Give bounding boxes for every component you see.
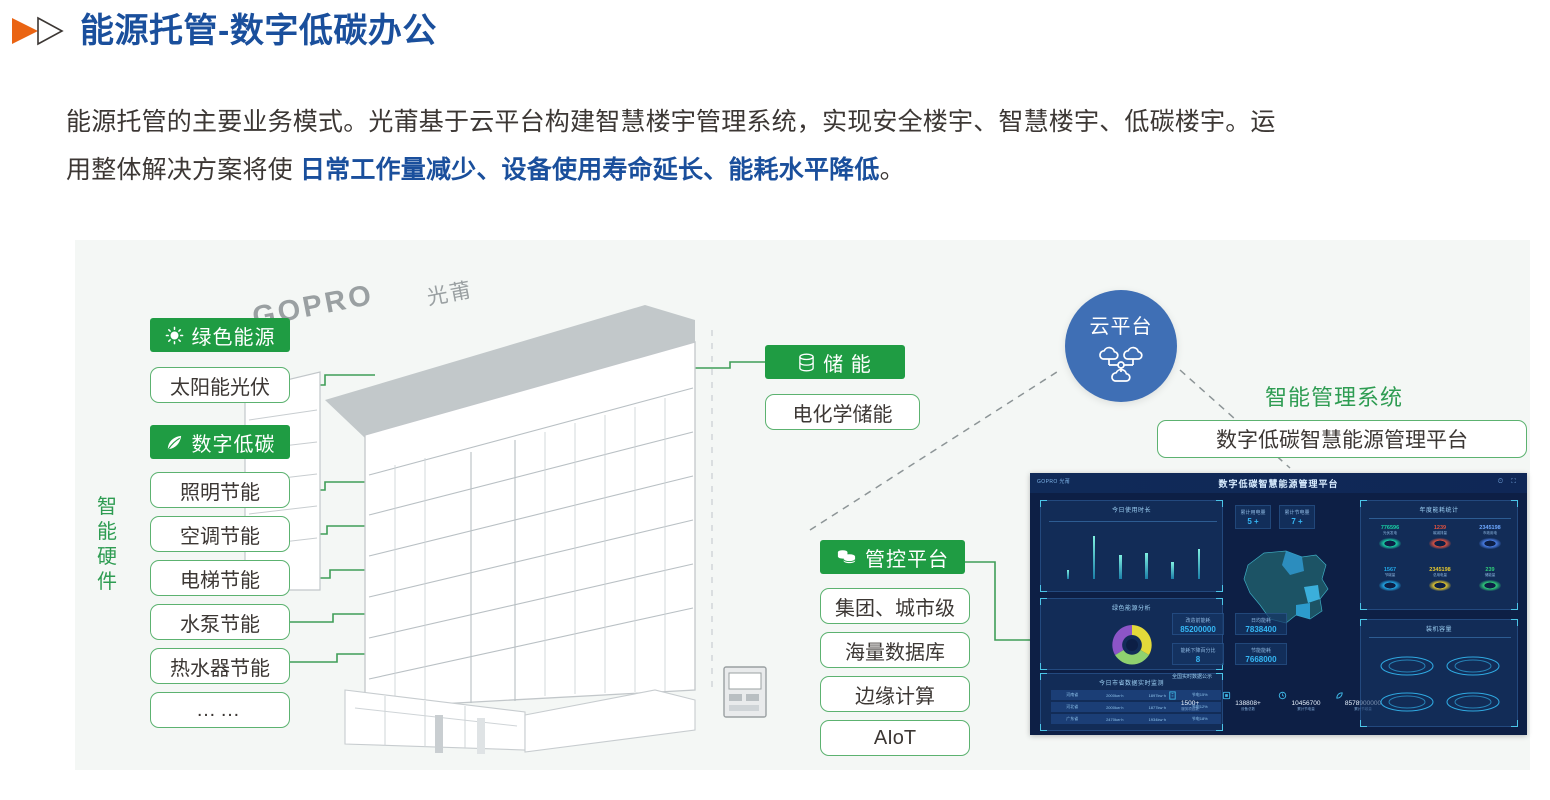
- dashboard-title: 数字低碳智慧能源管理平台: [1030, 477, 1527, 490]
- cell: 2000kw·h: [1094, 705, 1137, 710]
- gauge-label: 节碳量: [1367, 573, 1413, 578]
- dashboard-screenshot[interactable]: GOPRO 光莆 数字低碳智慧能源管理平台 ⏲ ⛶ 今日使用时长 绿色能源分析: [1030, 473, 1527, 735]
- bottom-stat-devices: 138808+ 设备总数: [1222, 691, 1274, 712]
- stat-label: 节能能耗: [1236, 647, 1286, 654]
- stat-label: 改造前能耗: [1173, 617, 1223, 624]
- item-lighting-saving[interactable]: 照明节能: [150, 472, 290, 508]
- gauge-label: 储能量: [1467, 573, 1513, 578]
- panel-title: 装机容量: [1361, 624, 1517, 633]
- item-label: 集团、城市级: [835, 592, 955, 621]
- stat-value: 138808+: [1222, 700, 1274, 707]
- bottom-stat-power-saved: 10456700 累计节电量: [1278, 691, 1334, 712]
- stat-value: 1500+: [1168, 700, 1212, 707]
- dashboard-window-icons[interactable]: ⏲ ⛶: [1498, 478, 1519, 486]
- meter-device-icon: [722, 665, 768, 719]
- stat-daily-consumption: 日均能耗 7838400: [1235, 613, 1287, 635]
- device-icon: [1222, 691, 1231, 700]
- building-icon: [1168, 691, 1177, 700]
- cell: 1934kw·h: [1136, 717, 1179, 722]
- cloud-platform-node[interactable]: 云平台: [1065, 290, 1177, 402]
- group-head-energy-storage: 储 能: [765, 345, 905, 379]
- group-head-label: 数字低碳: [192, 428, 276, 457]
- item-massive-database[interactable]: 海量数据库: [820, 632, 970, 668]
- stat-reduction-percent: 能耗下降百分比 8: [1172, 643, 1224, 665]
- item-label: 电梯节能: [180, 564, 260, 593]
- stat-label: 设备总数: [1222, 707, 1274, 712]
- leaf-icon: [165, 433, 184, 452]
- item-label: ……: [196, 699, 244, 722]
- item-label: AIoT: [874, 727, 916, 750]
- sun-icon: [165, 326, 184, 345]
- group-head-digital-low-carbon: 数字低碳: [150, 425, 290, 459]
- capacity-gauges: [1361, 640, 1519, 724]
- item-aiot[interactable]: AIoT: [820, 720, 970, 756]
- group-head-control-platform: 管控平台: [820, 540, 965, 574]
- stat-value: 7668000: [1236, 655, 1286, 664]
- cell: 广东省: [1051, 716, 1094, 722]
- panel-capacity: 装机容量: [1360, 619, 1518, 727]
- group-head-label: 管控平台: [865, 543, 949, 572]
- system-platform-box[interactable]: 数字低碳智慧能源管理平台: [1157, 420, 1527, 458]
- double-triangle-icon: [8, 14, 66, 48]
- item-label: 水泵节能: [180, 608, 260, 637]
- kpi-accumulated-saving: 累计节电量 7 +: [1279, 505, 1315, 529]
- item-label: 热水器节能: [170, 652, 270, 681]
- kpi-label: 累计用电量: [1236, 509, 1270, 516]
- page-header: 能源托管-数字低碳办公: [8, 14, 437, 48]
- item-elevator-saving[interactable]: 电梯节能: [150, 560, 290, 596]
- item-label: 海量数据库: [845, 636, 945, 665]
- system-title: 智能管理系统: [1265, 380, 1403, 412]
- page-title: 能源托管-数字低碳办公: [80, 14, 437, 48]
- gauge-label: 总用电量: [1417, 573, 1463, 578]
- panel-title: 今日使用时长: [1041, 505, 1222, 514]
- database-icon: [798, 353, 815, 372]
- stat-value: 8: [1173, 655, 1223, 664]
- item-pump-saving[interactable]: 水泵节能: [150, 604, 290, 640]
- item-label: 太阳能光伏: [170, 371, 270, 400]
- group-head-label: 储 能: [823, 348, 872, 377]
- cell: 河南省: [1051, 692, 1094, 698]
- group-head-label: 绿色能源: [192, 321, 276, 350]
- kpi-value: 7 +: [1280, 517, 1314, 526]
- intro-line-2-highlight: 日常工作量减少、设备使用寿命延长、能耗水平降低: [300, 156, 880, 184]
- item-edge-computing[interactable]: 边缘计算: [820, 676, 970, 712]
- stat-label: 能耗下降百分比: [1173, 647, 1223, 654]
- item-group-city-level[interactable]: 集团、城市级: [820, 588, 970, 624]
- bottom-stat-projects: 1500+ 服务项目数: [1168, 691, 1212, 712]
- intro-line-1: 能源托管的主要业务模式。光莆基于云平台构建智慧楼宇管理系统，实现安全楼宇、智慧楼…: [66, 108, 1276, 136]
- item-label: 电化学储能: [793, 398, 893, 427]
- stat-label: 日均能耗: [1236, 617, 1286, 624]
- item-solar-pv[interactable]: 太阳能光伏: [150, 367, 290, 403]
- vertical-label-smart-hardware: 智能硬件: [95, 495, 119, 595]
- cell: 2470kw·h: [1094, 717, 1137, 722]
- national-data-title: 全国实时数据公示: [1172, 673, 1212, 680]
- kpi-value: 5 +: [1236, 517, 1270, 526]
- stat-value: 7838400: [1236, 625, 1286, 634]
- stat-value: 10456700: [1278, 700, 1334, 707]
- cloud-platform-label: 云平台: [1090, 310, 1153, 339]
- item-water-heater-saving[interactable]: 热水器节能: [150, 648, 290, 684]
- diagram-panel: GOPRO 光莆 智能硬件 绿色能源: [75, 240, 1530, 770]
- item-more[interactable]: ……: [150, 692, 290, 728]
- stat-before-retrofit: 改造前能耗 85200000: [1172, 613, 1224, 635]
- intro-line-2-tail: 。: [880, 156, 905, 184]
- stat-label: 累计节电量: [1278, 707, 1334, 712]
- group-head-green-energy: 绿色能源: [150, 318, 290, 352]
- gauge-label: 市政用电: [1467, 531, 1513, 536]
- gauge-label: 碳减排量: [1417, 531, 1463, 536]
- table-row: 广东省 2470kw·h 1934kw·h 节电18%: [1051, 714, 1221, 724]
- intro-paragraph: 能源托管的主要业务模式。光莆基于云平台构建智慧楼宇管理系统，实现安全楼宇、智慧楼…: [66, 98, 1536, 194]
- building-illustration: [225, 260, 745, 760]
- cell: 2000kw·h: [1094, 693, 1137, 698]
- item-label: 空调节能: [180, 520, 260, 549]
- stat-label: 服务项目数: [1168, 707, 1212, 712]
- gauge-label: 光伏发电: [1367, 531, 1413, 536]
- cell: 节电18%: [1179, 716, 1222, 722]
- panel-annual-stats: 年度能耗统计 776596 光伏发电 1239 碳减排量 2345198 市政用…: [1360, 500, 1518, 610]
- item-hvac-saving[interactable]: 空调节能: [150, 516, 290, 552]
- item-electrochemical-storage[interactable]: 电化学储能: [765, 394, 920, 430]
- panel-usage-duration: 今日使用时长: [1040, 500, 1223, 592]
- leaf-icon: [1335, 691, 1344, 700]
- clock-icon: [1278, 691, 1287, 700]
- cloud-network-icon: [1094, 342, 1148, 382]
- panel-title: 年度能耗统计: [1361, 505, 1517, 514]
- stacked-database-icon: [836, 548, 857, 566]
- slide-root: 能源托管-数字低碳办公 能源托管的主要业务模式。光莆基于云平台构建智慧楼宇管理系…: [0, 0, 1550, 800]
- kpi-label: 累计节电量: [1280, 509, 1314, 516]
- panel-title: 绿色能源分析: [1041, 603, 1222, 612]
- intro-line-2-plain: 用整体解决方案将使: [66, 156, 300, 184]
- system-platform-label: 数字低碳智慧能源管理平台: [1216, 424, 1468, 454]
- cell: 河北省: [1051, 704, 1094, 710]
- kpi-accumulated-power: 累计用电量 5 +: [1235, 505, 1271, 529]
- usage-bar-chart: [1055, 527, 1212, 579]
- stat-energy-saved: 节能能耗 7668000: [1235, 643, 1287, 665]
- item-label: 照明节能: [180, 476, 260, 505]
- item-label: 边缘计算: [855, 680, 935, 709]
- stat-value: 85200000: [1173, 625, 1223, 634]
